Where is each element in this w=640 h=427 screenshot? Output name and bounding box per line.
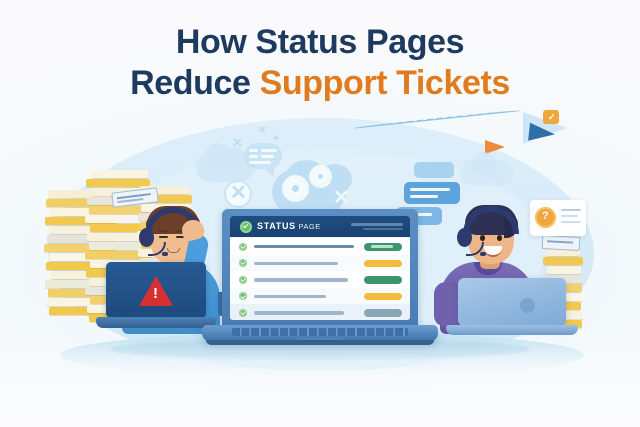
status-page-heading-main: STATUS [257, 221, 296, 231]
check-circle-icon [239, 259, 247, 267]
hero-laptop-keyboard[interactable] [232, 328, 408, 336]
right-laptop-base [446, 325, 578, 335]
title-line-2: Reduce Support Tickets [0, 63, 640, 104]
left-laptop: ! [96, 262, 214, 334]
service-name-bar [254, 295, 326, 298]
table-row[interactable] [230, 304, 410, 320]
service-name-bar [254, 311, 344, 314]
status-page-meta-line [351, 223, 403, 226]
table-row[interactable] [230, 288, 410, 306]
check-circle-icon [239, 292, 247, 300]
table-row[interactable] [230, 271, 410, 289]
check-circle-icon [239, 276, 247, 284]
paper-plane-icon: ✓ [515, 108, 585, 160]
x-mark-icon: ✕ [232, 136, 243, 149]
status-badge [364, 243, 402, 251]
page-title: How Status Pages Reduce Support Tickets [0, 22, 640, 104]
title-line-1: How Status Pages [0, 22, 640, 63]
warning-exclamation: ! [153, 286, 158, 301]
service-name-bar [254, 245, 354, 248]
illustration-banner: ✕ ✕ ✕ ✕ ✦ ✓ [0, 0, 640, 427]
status-badge [364, 309, 402, 317]
hero-laptop-front-lip [206, 340, 434, 345]
sparkle-icon: ✦ [272, 134, 280, 143]
title-line-2-prefix: Reduce [130, 64, 259, 102]
green-check-circle-icon [240, 221, 252, 233]
x-mark-icon-small: ✕ [258, 126, 266, 136]
right-laptop [446, 278, 576, 340]
check-circle-icon [239, 243, 247, 251]
check-circle-icon [239, 309, 247, 317]
status-page-heading: STATUS PAGE [257, 221, 321, 231]
status-page-screen[interactable]: STATUS PAGE [230, 216, 410, 320]
cloud-icon-right-lobe [472, 152, 496, 174]
title-line-2-accent: Support Tickets [260, 64, 510, 102]
left-laptop-base [96, 317, 216, 328]
table-row[interactable] [230, 238, 410, 256]
status-page-meta-line-2 [363, 228, 403, 230]
service-name-bar [254, 278, 348, 281]
status-badge [364, 293, 402, 301]
right-laptop-lid [458, 278, 566, 326]
status-badge [364, 276, 402, 284]
status-page-heading-sub: PAGE [296, 222, 321, 231]
hero-laptop: STATUS PAGE [202, 209, 438, 359]
status-badge [364, 260, 402, 268]
paper-label-tag-right [542, 235, 581, 251]
chat-bubble-icon-3 [414, 162, 454, 178]
table-row[interactable] [230, 255, 410, 273]
service-name-bar [254, 262, 338, 265]
